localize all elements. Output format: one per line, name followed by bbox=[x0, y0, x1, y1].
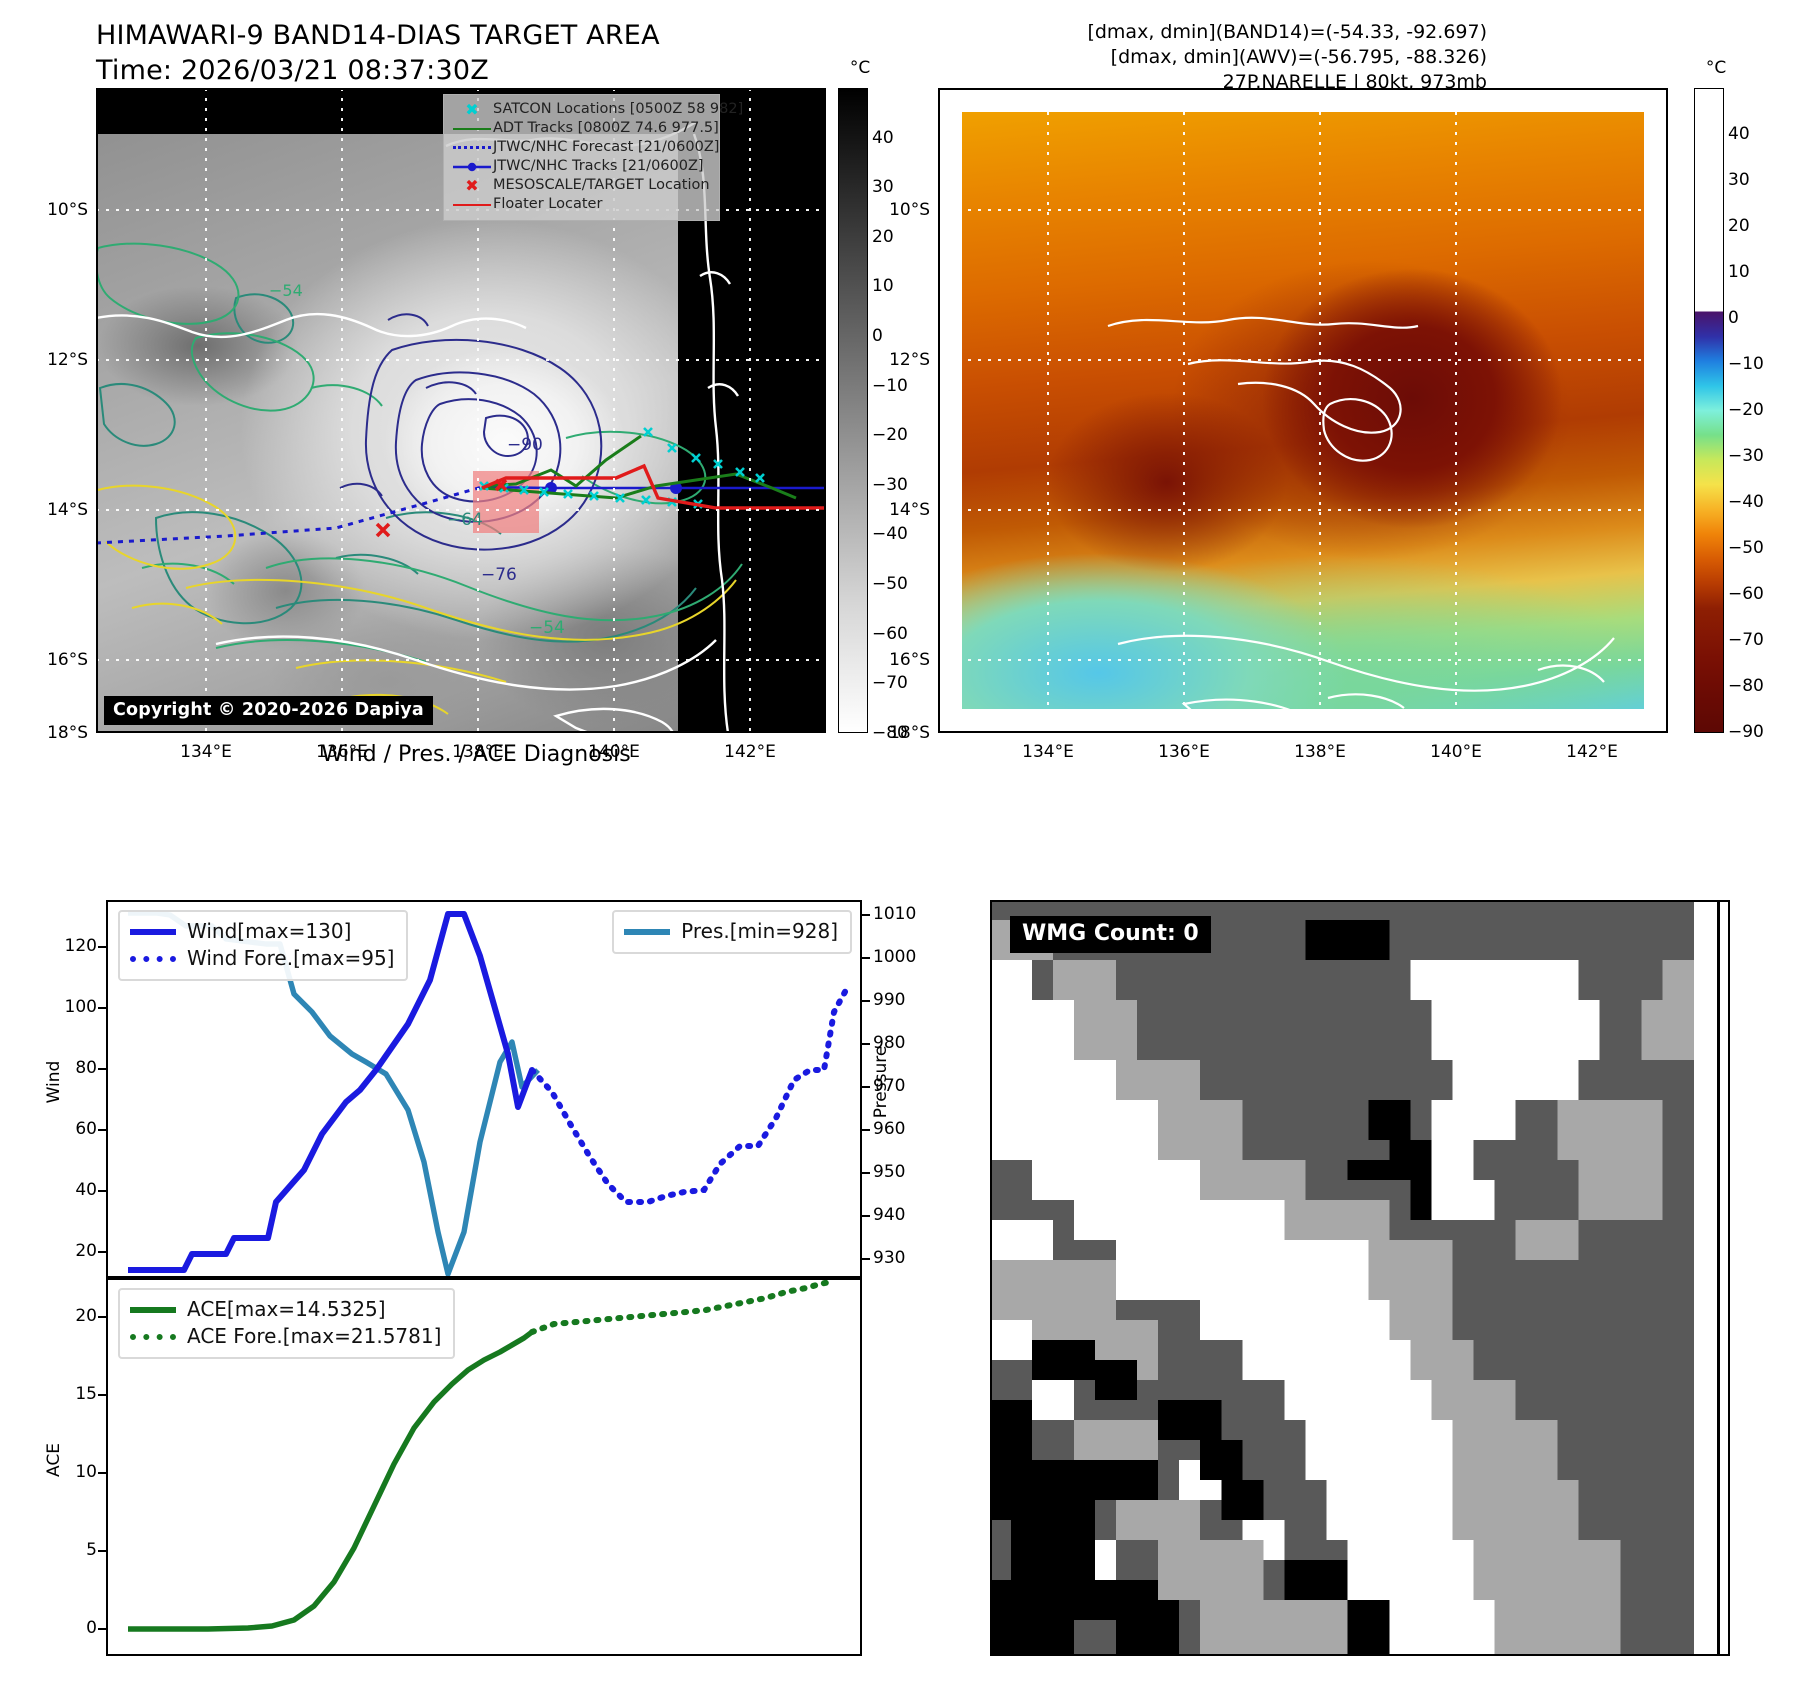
grayscale-ir-image[interactable]: −90 −64 −76 −54 −54 ✖ bbox=[96, 88, 826, 733]
legend-row-jtwc-forecast: JTWC/NHC Forecast [21/0600Z] bbox=[451, 138, 712, 157]
ace-line bbox=[128, 1332, 532, 1629]
wind-forecast-line-icon bbox=[130, 956, 176, 962]
wmg-count-badge: WMG Count: 0 bbox=[1010, 916, 1211, 953]
cb-right-tick-m70: −70 bbox=[1728, 630, 1764, 650]
lat-label-r-18s: 18°S bbox=[860, 723, 930, 743]
cb-right-tick-30: 30 bbox=[1728, 170, 1750, 190]
pres-ytick-930: 930 bbox=[873, 1248, 905, 1268]
lat-label-10s: 10°S bbox=[18, 200, 88, 220]
color-ir-image[interactable] bbox=[938, 88, 1668, 733]
cb-left-tick-30: 30 bbox=[872, 177, 894, 197]
lat-label-r-16s: 16°S bbox=[860, 650, 930, 670]
wmg-right-margin bbox=[1694, 900, 1730, 1656]
svg-text:−54: −54 bbox=[529, 618, 565, 638]
wind-legend: Wind[max=130] Wind Fore.[max=95] bbox=[118, 910, 408, 981]
ace-forecast-legend-label: ACE Fore.[max=21.5781] bbox=[187, 1323, 441, 1350]
cb-right-tick-m10: −10 bbox=[1728, 354, 1764, 374]
ace-legend-label: ACE[max=14.5325] bbox=[187, 1296, 386, 1323]
pressure-legend-row: Pres.[min=928] bbox=[624, 918, 838, 945]
map-legend: ✖ SATCON Locations [0500Z 58 982] ADT Tr… bbox=[443, 94, 720, 221]
cb-right-tick-m90: −90 bbox=[1728, 722, 1764, 742]
wmg-mask-cells bbox=[990, 900, 1730, 1656]
wind-line-icon bbox=[130, 929, 176, 935]
header: HIMAWARI-9 BAND14-DIAS TARGET AREA Time:… bbox=[0, 0, 1797, 88]
header-stats: [dmax, dmin](BAND14)=(-54.33, -92.697) [… bbox=[1087, 20, 1487, 95]
legend-label-jtwc-tracks: JTWC/NHC Tracks [21/0600Z] bbox=[493, 159, 704, 174]
ace-axis-label: ACE bbox=[44, 1430, 64, 1490]
color-ir-map-panel[interactable]: 10°S 12°S 14°S 16°S 18°S 134°E 136°E 138… bbox=[938, 88, 1668, 733]
map-overlay-vectors-right bbox=[938, 88, 1668, 733]
cross-red-icon: ✖ bbox=[451, 176, 493, 195]
ace-line-icon bbox=[130, 1307, 176, 1313]
ace-ytick-20: 20 bbox=[75, 1306, 97, 1326]
cb-left-tick-m70: −70 bbox=[872, 673, 908, 693]
pres-ytick-990: 990 bbox=[873, 990, 905, 1010]
pressure-legend: Pres.[min=928] bbox=[612, 910, 852, 954]
jtwc-forecast-track bbox=[96, 487, 482, 543]
lat-label-r-10s: 10°S bbox=[860, 200, 930, 220]
line-marker-blue-icon bbox=[451, 157, 493, 176]
wind-axis-label: Wind bbox=[44, 1052, 64, 1112]
page-title: HIMAWARI-9 BAND14-DIAS TARGET AREA Time:… bbox=[96, 18, 660, 88]
cb-left-tick-20: 20 bbox=[872, 227, 894, 247]
lon-label-r-140e: 140°E bbox=[1416, 742, 1496, 762]
svg-text:−90: −90 bbox=[507, 435, 543, 455]
cb-left-tick-m50: −50 bbox=[872, 574, 908, 594]
wind-ytick-40: 40 bbox=[75, 1180, 97, 1200]
wind-ytick-60: 60 bbox=[75, 1119, 97, 1139]
wmg-mask-panel[interactable]: WMG Count: 0 bbox=[990, 900, 1730, 1656]
pressure-legend-label: Pres.[min=928] bbox=[681, 918, 838, 945]
ace-ytick-15: 15 bbox=[75, 1384, 97, 1404]
wind-forecast-line bbox=[532, 990, 846, 1202]
wind-ytick-20: 20 bbox=[75, 1241, 97, 1261]
pressure-axis-label: Pressure bbox=[871, 1042, 891, 1122]
lon-label-r-134e: 134°E bbox=[1008, 742, 1088, 762]
legend-row-mesoscale: ✖ MESOSCALE/TARGET Location bbox=[451, 176, 712, 195]
wind-legend-label: Wind[max=130] bbox=[187, 918, 351, 945]
grayscale-ir-map-panel[interactable]: −90 −64 −76 −54 −54 ✖ bbox=[96, 88, 826, 733]
charts-title: Wind / Pres. / ACE Diagnosis bbox=[96, 742, 856, 767]
ace-legend-row: ACE[max=14.5325] bbox=[130, 1296, 441, 1323]
ace-legend-row-forecast: ACE Fore.[max=21.5781] bbox=[130, 1323, 441, 1350]
cb-left-tick-m10: −10 bbox=[872, 376, 908, 396]
pres-ytick-1000: 1000 bbox=[873, 947, 916, 967]
cb-left-tick-m20: −20 bbox=[872, 425, 908, 445]
colorbar-unit-left: °C bbox=[830, 58, 890, 78]
lat-label-14s: 14°S bbox=[18, 500, 88, 520]
wind-ytick-100: 100 bbox=[65, 997, 97, 1017]
line-red-icon bbox=[451, 195, 493, 214]
colorbar-gradient-left bbox=[838, 88, 868, 733]
cb-left-tick-0: 0 bbox=[872, 326, 883, 346]
legend-label-jtwc-forecast: JTWC/NHC Forecast [21/0600Z] bbox=[493, 140, 719, 155]
legend-label-floater: Floater Locater bbox=[493, 197, 602, 212]
cb-right-tick-10: 10 bbox=[1728, 262, 1750, 282]
wmg-mask-image[interactable]: WMG Count: 0 bbox=[990, 900, 1730, 1656]
wind-ytick-80: 80 bbox=[75, 1058, 97, 1078]
svg-text:−54: −54 bbox=[269, 281, 303, 300]
lon-label-r-138e: 138°E bbox=[1280, 742, 1360, 762]
stat-band14: [dmax, dmin](BAND14)=(-54.33, -92.697) bbox=[1087, 20, 1487, 45]
dotted-blue-line-icon bbox=[451, 138, 493, 157]
ace-ytick-5: 5 bbox=[86, 1540, 97, 1560]
colorbar-unit-right: °C bbox=[1686, 58, 1746, 78]
lat-label-r-14s: 14°S bbox=[860, 500, 930, 520]
lat-label-16s: 16°S bbox=[18, 650, 88, 670]
pres-ytick-960: 960 bbox=[873, 1119, 905, 1139]
ace-ytick-10: 10 bbox=[75, 1462, 97, 1482]
svg-text:−76: −76 bbox=[481, 565, 517, 585]
cb-right-tick-m40: −40 bbox=[1728, 492, 1764, 512]
cb-left-tick-10: 10 bbox=[872, 276, 894, 296]
legend-row-floater: Floater Locater bbox=[451, 195, 712, 214]
wind-legend-row-wind: Wind[max=130] bbox=[130, 918, 394, 945]
pres-ytick-940: 940 bbox=[873, 1205, 905, 1225]
wind-forecast-legend-label: Wind Fore.[max=95] bbox=[187, 945, 394, 972]
wind-ytick-120: 120 bbox=[65, 936, 97, 956]
legend-label-satcon: SATCON Locations [0500Z 58 982] bbox=[493, 102, 743, 117]
cb-left-tick-m60: −60 bbox=[872, 624, 908, 644]
ace-forecast-line bbox=[532, 1282, 830, 1332]
legend-row-adt: ADT Tracks [0800Z 74.6 977.5] bbox=[451, 119, 712, 138]
legend-row-jtwc-tracks: JTWC/NHC Tracks [21/0600Z] bbox=[451, 157, 712, 176]
ace-forecast-line-icon bbox=[130, 1334, 176, 1340]
pres-ytick-950: 950 bbox=[873, 1162, 905, 1182]
cb-right-tick-m50: −50 bbox=[1728, 538, 1764, 558]
line-green-icon bbox=[451, 119, 493, 138]
pres-ytick-1010: 1010 bbox=[873, 904, 916, 924]
lat-label-r-12s: 12°S bbox=[860, 350, 930, 370]
stat-awv: [dmax, dmin](AWV)=(-56.795, -88.326) bbox=[1087, 45, 1487, 70]
lat-label-18s: 18°S bbox=[18, 723, 88, 743]
colorbar-gradient-right bbox=[1694, 88, 1724, 733]
legend-label-adt: ADT Tracks [0800Z 74.6 977.5] bbox=[493, 121, 719, 136]
cb-right-tick-m60: −60 bbox=[1728, 584, 1764, 604]
cb-right-tick-m80: −80 bbox=[1728, 676, 1764, 696]
title-line-1: HIMAWARI-9 BAND14-DIAS TARGET AREA bbox=[96, 18, 660, 53]
cb-right-tick-m20: −20 bbox=[1728, 400, 1764, 420]
legend-row-satcon: ✖ SATCON Locations [0500Z 58 982] bbox=[451, 100, 712, 119]
legend-label-mesoscale: MESOSCALE/TARGET Location bbox=[493, 178, 710, 193]
wind-legend-row-forecast: Wind Fore.[max=95] bbox=[130, 945, 394, 972]
ace-legend: ACE[max=14.5325] ACE Fore.[max=21.5781] bbox=[118, 1288, 455, 1359]
cb-left-tick-40: 40 bbox=[872, 128, 894, 148]
cb-right-tick-0: 0 bbox=[1728, 308, 1739, 328]
cb-left-tick-m30: −30 bbox=[872, 475, 908, 495]
cb-right-tick-20: 20 bbox=[1728, 216, 1750, 236]
lat-label-12s: 12°S bbox=[18, 350, 88, 370]
lon-label-r-136e: 136°E bbox=[1144, 742, 1224, 762]
pressure-line-icon bbox=[624, 929, 670, 935]
wmg-right-axis-line bbox=[1717, 900, 1720, 1656]
ace-ytick-0: 0 bbox=[86, 1618, 97, 1638]
lon-label-r-142e: 142°E bbox=[1552, 742, 1632, 762]
cb-right-tick-40: 40 bbox=[1728, 124, 1750, 144]
cross-cyan-icon: ✖ bbox=[451, 100, 493, 119]
cb-right-tick-m30: −30 bbox=[1728, 446, 1764, 466]
copyright-badge: Copyright © 2020-2026 Dapiya bbox=[104, 696, 433, 725]
wind-pressure-chart[interactable]: 120 100 80 60 40 20 Wind 1010 1000 990 9… bbox=[106, 900, 862, 1278]
cb-left-tick-m40: −40 bbox=[872, 524, 908, 544]
ace-chart[interactable]: 20 15 10 5 0 ACE ACE[max=14.5325] ACE Fo… bbox=[106, 1278, 862, 1656]
title-line-2: Time: 2026/03/21 08:37:30Z bbox=[96, 53, 660, 88]
